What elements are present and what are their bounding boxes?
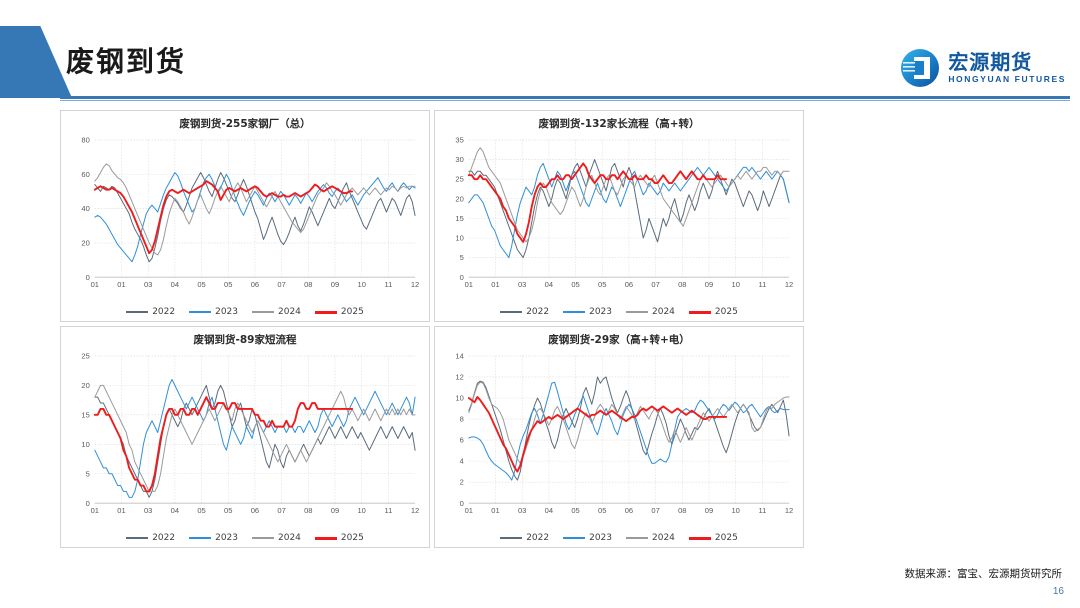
page-number: 16 bbox=[1053, 586, 1064, 597]
chart-29-all: 废钢到货-29家（高+转+电）0246810121401010304050506… bbox=[434, 326, 804, 548]
legend-item-2024[interactable]: 2024 bbox=[626, 307, 675, 317]
legend-label-2024: 2024 bbox=[278, 307, 301, 317]
page-header: 废钢到货 宏源期货 HONGYUAN FUT bbox=[0, 0, 1080, 104]
legend-swatch-2025 bbox=[315, 311, 337, 314]
legend-label-2025: 2025 bbox=[341, 533, 364, 543]
plot-area: 02040608001010304050506070809101112 bbox=[61, 133, 429, 295]
svg-text:11: 11 bbox=[758, 280, 766, 289]
legend-swatch-2023 bbox=[189, 311, 211, 314]
svg-text:06: 06 bbox=[251, 506, 259, 515]
svg-text:05: 05 bbox=[197, 506, 205, 515]
svg-text:10: 10 bbox=[81, 440, 89, 449]
svg-text:0: 0 bbox=[86, 273, 90, 282]
legend-swatch-2022 bbox=[126, 311, 148, 314]
svg-text:8: 8 bbox=[460, 415, 464, 424]
svg-text:10: 10 bbox=[455, 234, 463, 243]
logo-name-cn: 宏源期货 bbox=[948, 52, 1066, 72]
legend-label-2024: 2024 bbox=[278, 533, 301, 543]
svg-text:14: 14 bbox=[455, 352, 463, 361]
svg-text:12: 12 bbox=[785, 506, 793, 515]
svg-text:25: 25 bbox=[455, 175, 463, 184]
svg-text:07: 07 bbox=[277, 506, 285, 515]
header-divider-thin bbox=[60, 100, 1070, 101]
data-source-note: 数据来源：富宝、宏源期货研究所 bbox=[905, 566, 1063, 581]
legend-item-2022[interactable]: 2022 bbox=[500, 307, 549, 317]
legend-item-2023[interactable]: 2023 bbox=[563, 533, 612, 543]
svg-text:06: 06 bbox=[625, 506, 633, 515]
legend-item-2024[interactable]: 2024 bbox=[626, 533, 675, 543]
svg-text:6: 6 bbox=[460, 436, 464, 445]
legend-swatch-2025 bbox=[689, 537, 711, 540]
legend-label-2022: 2022 bbox=[526, 307, 549, 317]
legend-swatch-2024 bbox=[626, 311, 648, 314]
svg-text:0: 0 bbox=[86, 499, 90, 508]
svg-text:01: 01 bbox=[91, 280, 99, 289]
svg-text:0: 0 bbox=[460, 273, 464, 282]
plot-area: 0246810121401010304050506070809101112 bbox=[435, 349, 803, 521]
svg-text:01: 01 bbox=[491, 280, 499, 289]
chart-255-total: 废钢到货-255家钢厂（总）02040608001010304050506070… bbox=[60, 110, 430, 322]
svg-text:20: 20 bbox=[81, 381, 89, 390]
svg-text:06: 06 bbox=[251, 280, 259, 289]
legend-item-2025[interactable]: 2025 bbox=[315, 307, 364, 317]
legend-swatch-2024 bbox=[626, 537, 648, 540]
svg-text:80: 80 bbox=[81, 136, 89, 145]
svg-text:03: 03 bbox=[144, 506, 152, 515]
svg-text:05: 05 bbox=[598, 506, 606, 515]
svg-text:12: 12 bbox=[411, 280, 419, 289]
legend-label-2024: 2024 bbox=[652, 307, 675, 317]
chart-title: 废钢到货-132家长流程（高+转） bbox=[435, 116, 803, 131]
svg-text:01: 01 bbox=[117, 506, 125, 515]
svg-text:05: 05 bbox=[598, 280, 606, 289]
svg-text:09: 09 bbox=[331, 280, 339, 289]
svg-text:10: 10 bbox=[455, 394, 463, 403]
svg-text:10: 10 bbox=[731, 280, 739, 289]
company-logo: 宏源期货 HONGYUAN FUTURES bbox=[899, 44, 1066, 92]
svg-text:12: 12 bbox=[785, 280, 793, 289]
svg-text:4: 4 bbox=[460, 457, 464, 466]
svg-text:09: 09 bbox=[705, 280, 713, 289]
svg-text:06: 06 bbox=[625, 280, 633, 289]
svg-text:20: 20 bbox=[455, 194, 463, 203]
chart-legend: 2022202320242025 bbox=[61, 533, 429, 543]
svg-text:07: 07 bbox=[651, 506, 659, 515]
svg-text:15: 15 bbox=[81, 410, 89, 419]
chart-title: 废钢到货-29家（高+转+电） bbox=[435, 332, 803, 347]
svg-text:08: 08 bbox=[678, 506, 686, 515]
legend-swatch-2023 bbox=[563, 311, 585, 314]
legend-label-2022: 2022 bbox=[152, 533, 175, 543]
svg-text:5: 5 bbox=[460, 253, 464, 262]
svg-text:40: 40 bbox=[81, 204, 89, 213]
legend-swatch-2023 bbox=[189, 537, 211, 540]
svg-text:07: 07 bbox=[277, 280, 285, 289]
chart-legend: 2022202320242025 bbox=[435, 533, 803, 543]
svg-text:15: 15 bbox=[455, 214, 463, 223]
svg-text:10: 10 bbox=[357, 506, 365, 515]
page-title: 废钢到货 bbox=[66, 40, 186, 80]
logo-name-en: HONGYUAN FUTURES bbox=[948, 75, 1066, 84]
svg-text:11: 11 bbox=[384, 280, 392, 289]
svg-text:05: 05 bbox=[224, 506, 232, 515]
legend-label-2023: 2023 bbox=[589, 307, 612, 317]
legend-item-2022[interactable]: 2022 bbox=[126, 307, 175, 317]
svg-text:30: 30 bbox=[455, 155, 463, 164]
legend-item-2024[interactable]: 2024 bbox=[252, 533, 301, 543]
legend-label-2025: 2025 bbox=[341, 307, 364, 317]
header-accent-shape bbox=[0, 26, 72, 98]
svg-text:2: 2 bbox=[460, 478, 464, 487]
svg-text:01: 01 bbox=[491, 506, 499, 515]
legend-item-2022[interactable]: 2022 bbox=[126, 533, 175, 543]
logo-text-block: 宏源期货 HONGYUAN FUTURES bbox=[948, 52, 1066, 84]
hongyuan-ring-logo-icon bbox=[899, 47, 941, 89]
chart-legend: 2022202320242025 bbox=[61, 307, 429, 317]
legend-item-2025[interactable]: 2025 bbox=[689, 307, 738, 317]
plot-area: 051015202501010304050506070809101112 bbox=[61, 349, 429, 521]
svg-text:03: 03 bbox=[144, 280, 152, 289]
chart-132-long: 废钢到货-132家长流程（高+转）05101520253035010103040… bbox=[434, 110, 804, 322]
svg-text:5: 5 bbox=[86, 469, 90, 478]
svg-text:08: 08 bbox=[304, 506, 312, 515]
legend-swatch-2024 bbox=[252, 311, 274, 314]
legend-item-2025[interactable]: 2025 bbox=[315, 533, 364, 543]
svg-text:09: 09 bbox=[705, 506, 713, 515]
svg-text:0: 0 bbox=[460, 499, 464, 508]
header-divider bbox=[60, 96, 1070, 99]
chart-title: 废钢到货-255家钢厂（总） bbox=[61, 116, 429, 131]
chart-89-short: 废钢到货-89家短流程05101520250101030405050607080… bbox=[60, 326, 430, 548]
chart-legend: 2022202320242025 bbox=[435, 307, 803, 317]
svg-text:05: 05 bbox=[571, 280, 579, 289]
svg-text:01: 01 bbox=[465, 280, 473, 289]
legend-item-2023[interactable]: 2023 bbox=[563, 307, 612, 317]
svg-text:04: 04 bbox=[171, 280, 179, 289]
legend-label-2024: 2024 bbox=[652, 533, 675, 543]
svg-text:20: 20 bbox=[81, 238, 89, 247]
legend-label-2022: 2022 bbox=[526, 533, 549, 543]
chart-grid: 废钢到货-255家钢厂（总）02040608001010304050506070… bbox=[60, 110, 1076, 550]
svg-text:07: 07 bbox=[651, 280, 659, 289]
svg-text:01: 01 bbox=[465, 506, 473, 515]
svg-text:03: 03 bbox=[518, 506, 526, 515]
svg-text:25: 25 bbox=[81, 352, 89, 361]
legend-label-2023: 2023 bbox=[215, 533, 238, 543]
svg-text:10: 10 bbox=[357, 280, 365, 289]
svg-text:04: 04 bbox=[545, 280, 553, 289]
svg-text:01: 01 bbox=[91, 506, 99, 515]
svg-text:10: 10 bbox=[731, 506, 739, 515]
legend-item-2023[interactable]: 2023 bbox=[189, 307, 238, 317]
chart-title: 废钢到货-89家短流程 bbox=[61, 332, 429, 347]
legend-label-2025: 2025 bbox=[715, 307, 738, 317]
svg-text:09: 09 bbox=[331, 506, 339, 515]
legend-item-2023[interactable]: 2023 bbox=[189, 533, 238, 543]
legend-label-2023: 2023 bbox=[215, 307, 238, 317]
legend-swatch-2025 bbox=[315, 537, 337, 540]
legend-item-2025[interactable]: 2025 bbox=[689, 533, 738, 543]
svg-text:03: 03 bbox=[518, 280, 526, 289]
svg-text:04: 04 bbox=[171, 506, 179, 515]
legend-item-2024[interactable]: 2024 bbox=[252, 307, 301, 317]
legend-swatch-2022 bbox=[500, 311, 522, 314]
svg-text:04: 04 bbox=[545, 506, 553, 515]
legend-swatch-2023 bbox=[563, 537, 585, 540]
legend-item-2022[interactable]: 2022 bbox=[500, 533, 549, 543]
legend-label-2025: 2025 bbox=[715, 533, 738, 543]
legend-swatch-2024 bbox=[252, 537, 274, 540]
svg-text:60: 60 bbox=[81, 170, 89, 179]
svg-text:05: 05 bbox=[224, 280, 232, 289]
svg-text:08: 08 bbox=[304, 280, 312, 289]
svg-text:01: 01 bbox=[117, 280, 125, 289]
legend-swatch-2025 bbox=[689, 311, 711, 314]
svg-text:12: 12 bbox=[455, 373, 463, 382]
svg-text:11: 11 bbox=[384, 506, 392, 515]
plot-area: 0510152025303501010304050506070809101112 bbox=[435, 133, 803, 295]
legend-label-2023: 2023 bbox=[589, 533, 612, 543]
legend-label-2022: 2022 bbox=[152, 307, 175, 317]
svg-text:11: 11 bbox=[758, 506, 766, 515]
svg-text:35: 35 bbox=[455, 136, 463, 145]
svg-text:05: 05 bbox=[571, 506, 579, 515]
legend-swatch-2022 bbox=[500, 537, 522, 540]
svg-text:08: 08 bbox=[678, 280, 686, 289]
svg-text:05: 05 bbox=[197, 280, 205, 289]
legend-swatch-2022 bbox=[126, 537, 148, 540]
svg-text:12: 12 bbox=[411, 506, 419, 515]
